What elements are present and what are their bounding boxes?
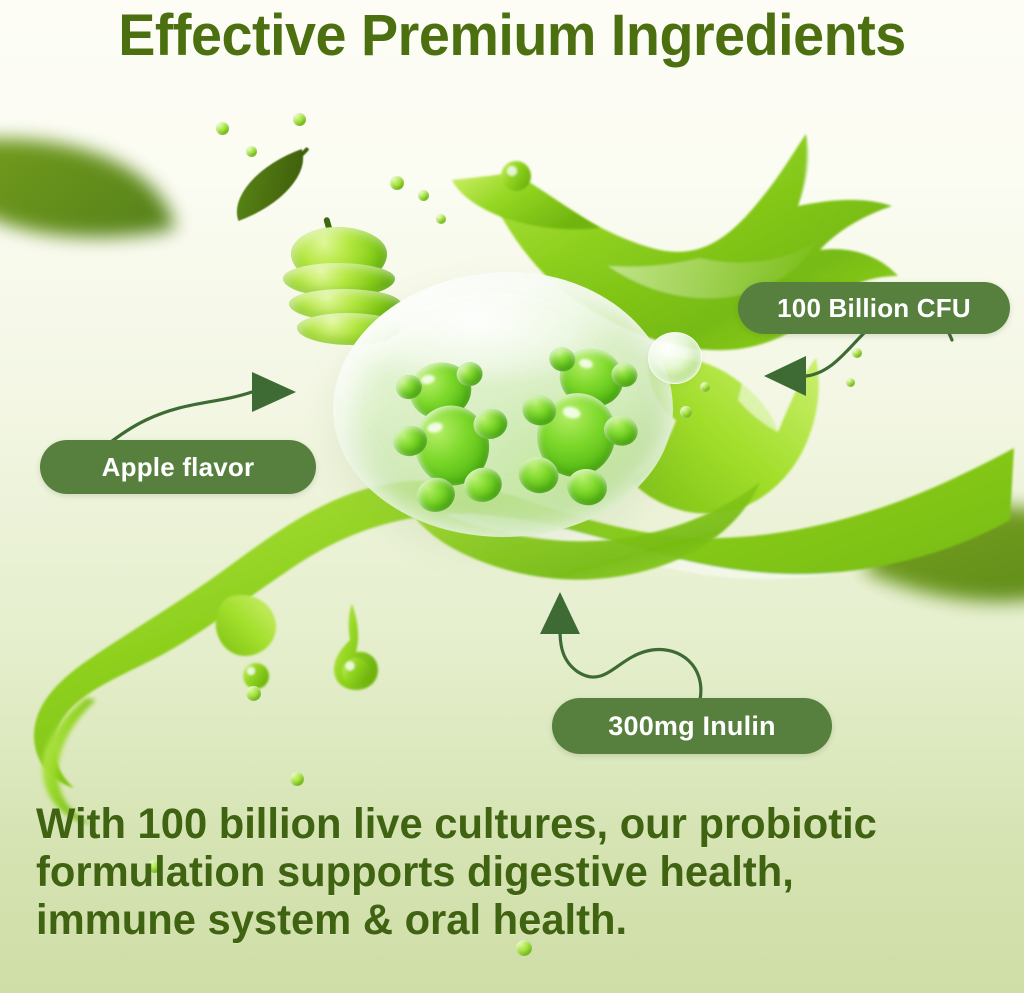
badge-label: 100 Billion CFU	[777, 293, 971, 324]
droplet-icon	[246, 686, 261, 701]
badge-label: 300mg Inulin	[608, 711, 775, 742]
droplet-icon	[418, 190, 429, 201]
droplet-icon	[680, 406, 692, 418]
description-line-2: formulation supports digestive health,	[36, 848, 996, 896]
badge-label: Apple flavor	[102, 452, 255, 483]
description-line-1: With 100 billion live cultures, our prob…	[36, 800, 996, 848]
badge-100-billion-cfu[interactable]: 100 Billion CFU	[738, 282, 1010, 334]
arrow-inulin-head-icon	[540, 592, 580, 634]
droplet-icon	[290, 772, 304, 786]
description-text: With 100 billion live cultures, our prob…	[36, 800, 996, 944]
blurred-leaf-right-icon	[863, 443, 1024, 664]
droplet-icon	[852, 348, 862, 358]
blurred-leaf-top-left-icon	[0, 100, 175, 277]
droplet-icon	[216, 122, 229, 135]
arrow-inulin-line	[560, 630, 701, 700]
splash-whip-left	[452, 161, 600, 229]
promo-banner: Effective Premium Ingredients 100 Billio…	[0, 0, 1024, 993]
droplet-icon	[293, 113, 306, 126]
droplet-icon	[390, 176, 404, 190]
droplet-icon	[700, 382, 710, 392]
description-line-3: immune system & oral health.	[36, 896, 996, 944]
droplet-icon	[436, 214, 446, 224]
droplet-icon	[846, 378, 855, 387]
badge-300mg-inulin[interactable]: 300mg Inulin	[552, 698, 832, 754]
badge-apple-flavor[interactable]: Apple flavor	[40, 440, 316, 494]
arrow-cfu-head-icon	[764, 356, 806, 396]
splash-droplet-cluster	[216, 595, 276, 689]
page-title: Effective Premium Ingredients	[20, 2, 1003, 69]
droplet-icon	[246, 146, 257, 157]
small-leaf-icon	[223, 149, 318, 221]
arrow-apple-head-icon	[252, 372, 296, 412]
